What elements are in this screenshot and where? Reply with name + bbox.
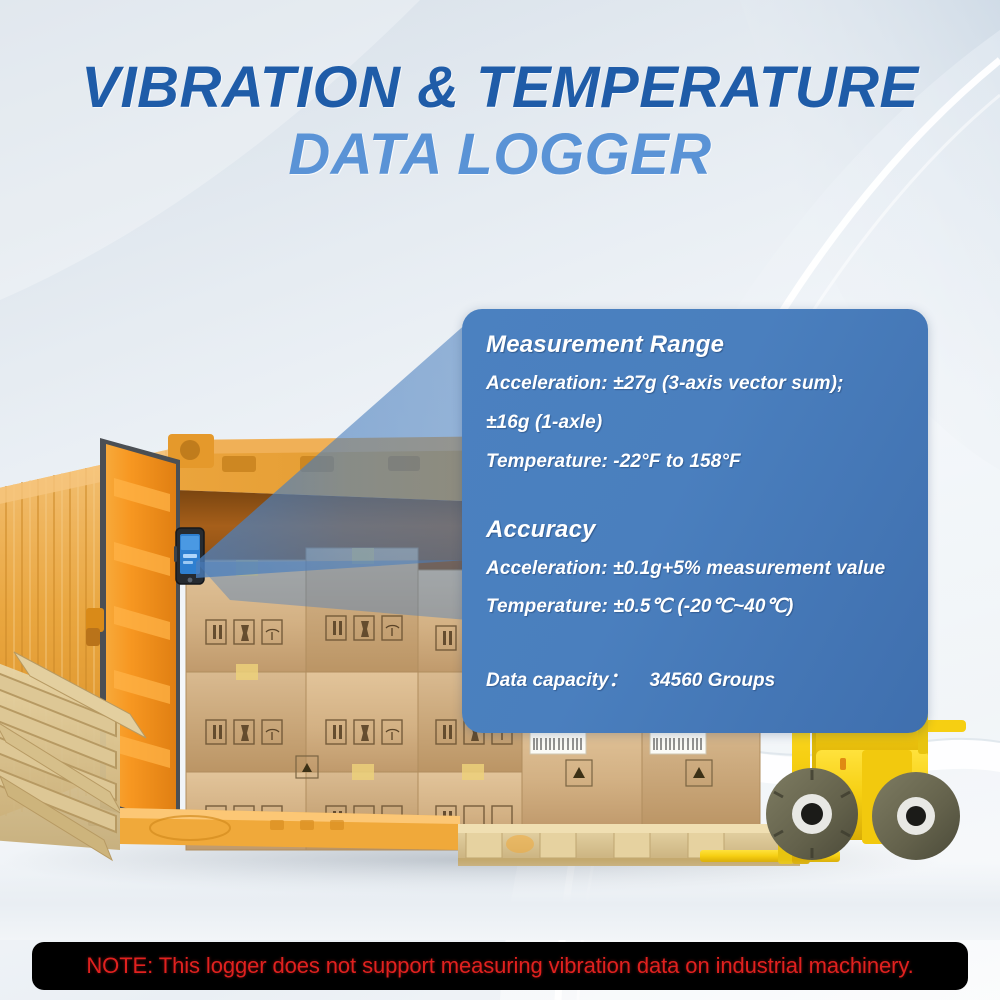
section-spacer [486,490,906,516]
title-line-2: DATA LOGGER [0,123,1000,188]
data-logger-device [174,528,204,584]
section-spacer-2 [486,635,906,665]
spec-temperature-accuracy: Temperature: ±0.5℃ (-20℃~40℃) [486,596,906,618]
title-line-1: VIBRATION & TEMPERATURE [0,58,1000,117]
section-heading-measurement-range: Measurement Range [486,331,906,359]
data-capacity-value: 34560 Groups [650,670,776,691]
spec-temperature-range: Temperature: -22°F to 158°F [486,451,906,473]
poster-title: VIBRATION & TEMPERATURE DATA LOGGER [0,58,1000,188]
note-text: NOTE: This logger does not support measu… [86,953,913,979]
spec-acceleration-range: Acceleration: ±27g (3-axis vector sum); [486,373,906,395]
spec-acceleration-accuracy: Acceleration: ±0.1g+5% measurement value [486,558,906,580]
spec-data-capacity: Data capacity：34560 Groups [486,665,906,692]
specs-info-panel: Measurement Range Acceleration: ±27g (3-… [462,309,928,733]
spec-acceleration-range-second: ±16g (1-axle) [486,412,906,434]
floor-backdrop [0,860,1000,940]
note-banner: NOTE: This logger does not support measu… [32,942,968,990]
section-heading-accuracy: Accuracy [486,516,906,544]
data-capacity-label: Data capacity： [486,670,628,691]
product-infographic-poster: VIBRATION & TEMPERATURE DATA LOGGER [0,0,1000,1000]
